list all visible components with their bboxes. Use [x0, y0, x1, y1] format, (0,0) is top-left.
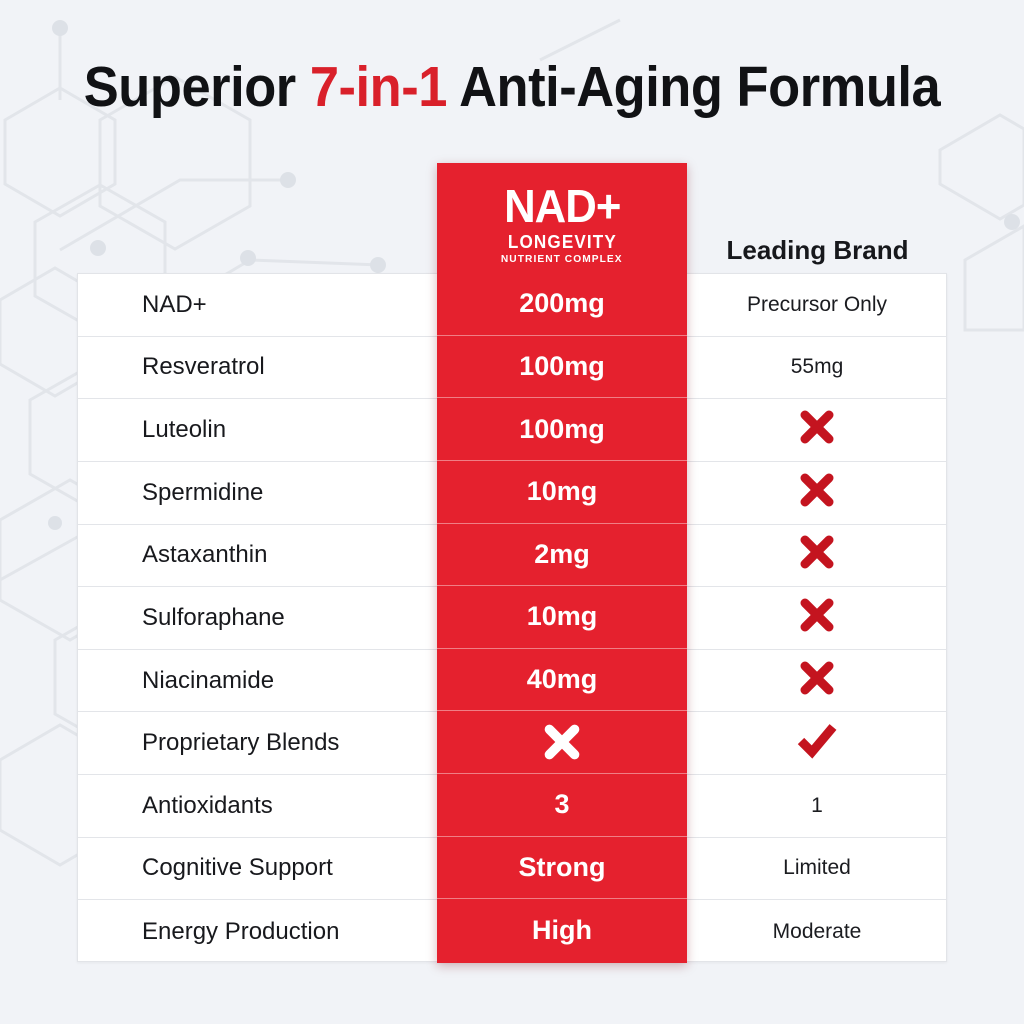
- cross-icon: [797, 407, 837, 447]
- competitor-value: Precursor Only: [688, 293, 946, 317]
- feature-label: NAD+: [78, 291, 438, 319]
- competitor-value: Moderate: [688, 920, 946, 944]
- product-value-row: 100mg: [437, 336, 687, 399]
- cross-icon: [797, 532, 837, 572]
- competitor-value: [688, 407, 946, 453]
- product-name: NAD+: [504, 183, 620, 229]
- competitor-value: 1: [688, 794, 946, 818]
- check-icon: [795, 718, 839, 762]
- feature-label: Spermidine: [78, 479, 438, 507]
- product-value-row: 40mg: [437, 649, 687, 712]
- competitor-value: Limited: [688, 856, 946, 880]
- competitor-value: [688, 470, 946, 516]
- product-column-highlight: NAD+ LONGEVITY NUTRIENT COMPLEX 200mg100…: [437, 163, 687, 963]
- product-value-row: 3: [437, 774, 687, 837]
- feature-label: Astaxanthin: [78, 541, 438, 569]
- product-value-row: 10mg: [437, 461, 687, 524]
- feature-label: Niacinamide: [78, 667, 438, 695]
- competitor-value: [688, 718, 946, 768]
- feature-label: Sulforaphane: [78, 604, 438, 632]
- competitor-value: 55mg: [688, 355, 946, 379]
- feature-label: Energy Production: [78, 918, 438, 946]
- feature-label: Proprietary Blends: [78, 729, 438, 757]
- cross-icon: [797, 658, 837, 698]
- competitor-column-header: Leading Brand: [690, 235, 945, 266]
- product-value-row: Strong: [437, 837, 687, 900]
- product-tagline: NUTRIENT COMPLEX: [501, 253, 623, 267]
- product-value-row: [437, 711, 687, 774]
- product-value-row: 100mg: [437, 398, 687, 461]
- feature-label: Resveratrol: [78, 353, 438, 381]
- competitor-value: [688, 658, 946, 704]
- product-value-row: 200mg: [437, 273, 687, 336]
- feature-label: Luteolin: [78, 416, 438, 444]
- page-title: Superior 7-in-1 Anti-Aging Formula: [41, 58, 983, 118]
- product-value-row: 2mg: [437, 524, 687, 587]
- competitor-value: [688, 532, 946, 578]
- title-accent: 7-in-1: [310, 55, 447, 119]
- product-subtitle: LONGEVITY: [507, 231, 616, 254]
- feature-label: Antioxidants: [78, 792, 438, 820]
- product-column-header: NAD+ LONGEVITY NUTRIENT COMPLEX: [437, 163, 687, 273]
- cross-icon: [797, 470, 837, 510]
- feature-label: Cognitive Support: [78, 854, 438, 882]
- product-value-row: High: [437, 899, 687, 962]
- title-part-1: Superior: [84, 55, 310, 119]
- competitor-value: [688, 595, 946, 641]
- cross-icon: [797, 595, 837, 635]
- title-part-2: Anti-Aging Formula: [447, 55, 940, 119]
- product-value-row: 10mg: [437, 586, 687, 649]
- cross-icon: [541, 721, 583, 763]
